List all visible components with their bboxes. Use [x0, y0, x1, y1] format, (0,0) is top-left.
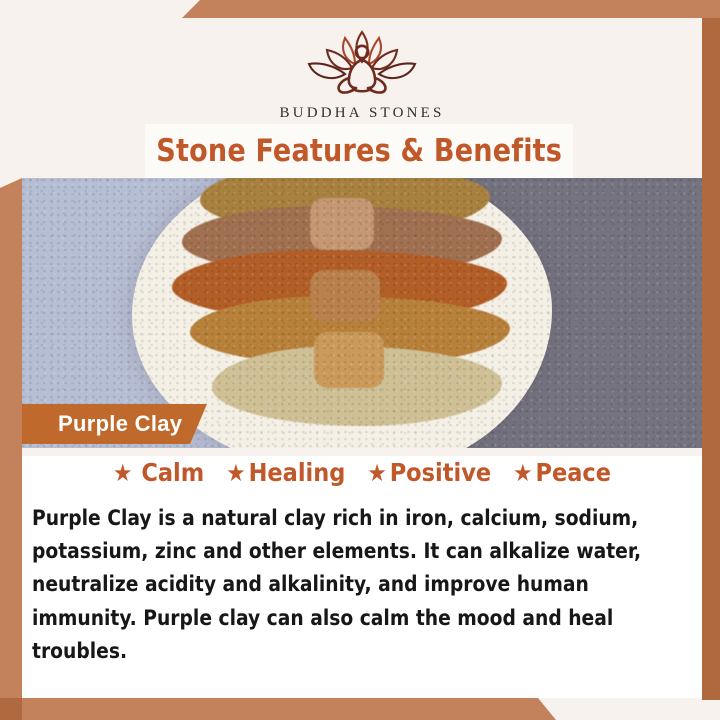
- frame-corner-bottom-left: [0, 698, 22, 720]
- stone-name-label: Purple Clay: [58, 411, 182, 437]
- description-panel: ★ Calm ★ Healing ★ Positive ★ Peace Purp…: [22, 448, 702, 698]
- keyword-label: Peace: [535, 458, 611, 487]
- keyword-positive: ★ Positive: [367, 458, 491, 487]
- frame-right-bar: [702, 0, 720, 700]
- keyword-label: Positive: [390, 458, 491, 487]
- keyword-label: Healing: [249, 458, 346, 487]
- star-icon: ★: [113, 461, 132, 485]
- title-banner: Stone Features & Benefits: [145, 124, 573, 178]
- star-icon: ★: [226, 461, 245, 485]
- star-icon: ★: [367, 461, 386, 485]
- frame-top-bar: [0, 0, 720, 18]
- powder-swatch-3: [314, 332, 384, 388]
- star-icon: ★: [513, 461, 532, 485]
- keyword-row: ★ Calm ★ Healing ★ Positive ★ Peace: [22, 458, 702, 487]
- brand-header: BUDDHA STONES: [22, 18, 702, 128]
- stone-name-tag: Purple Clay: [22, 404, 207, 444]
- frame-left-bar: [0, 178, 22, 698]
- product-feature-poster: BUDDHA STONES Stone Features & Benefits …: [0, 0, 720, 720]
- lotus-meditation-icon: [287, 26, 437, 103]
- frame-corner-top-right: [702, 0, 720, 18]
- brand-name: BUDDHA STONES: [279, 105, 444, 122]
- panel-top-strip: [22, 448, 702, 456]
- powder-swatch-2: [310, 270, 380, 322]
- frame-bottom-bar: [0, 698, 720, 720]
- powder-swatch-1: [310, 198, 374, 250]
- keyword-peace: ★ Peace: [513, 458, 611, 487]
- keyword-label: Calm: [141, 458, 204, 487]
- keyword-healing: ★ Healing: [226, 458, 345, 487]
- description-text: Purple Clay is a natural clay rich in ir…: [32, 502, 685, 668]
- page-title: Stone Features & Benefits: [156, 133, 562, 169]
- keyword-calm: ★ Calm: [113, 458, 204, 487]
